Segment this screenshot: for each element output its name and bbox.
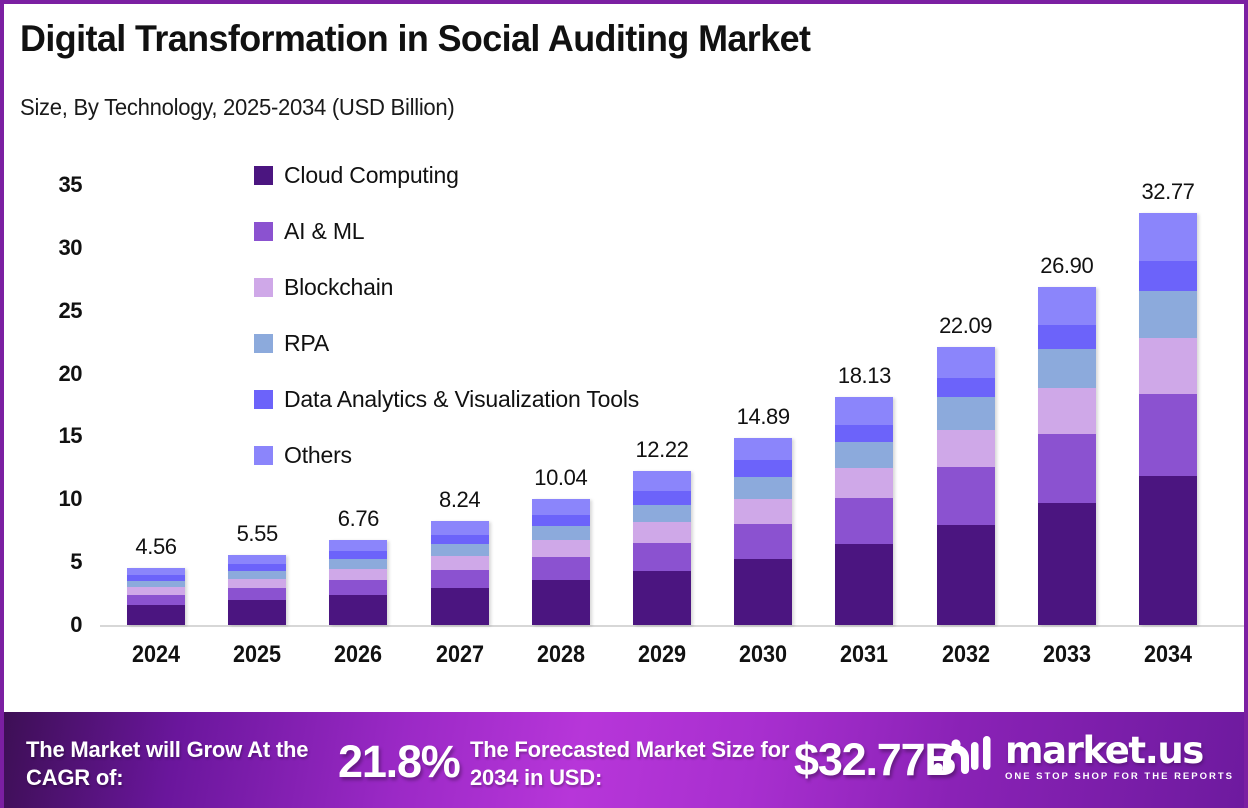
bar-segment[interactable]: [329, 551, 387, 559]
bar-group[interactable]: 26.902033: [1038, 4, 1096, 694]
bar-segment[interactable]: [937, 378, 995, 398]
bar-segment[interactable]: [835, 468, 893, 498]
x-axis-tick-label: 2024: [132, 641, 180, 669]
x-axis-tick-label: 2031: [840, 641, 888, 669]
bar-segment[interactable]: [937, 347, 995, 378]
bar-value-label: 5.55: [237, 521, 278, 547]
y-axis-tick-label: 20: [26, 361, 82, 387]
bar-segment[interactable]: [329, 569, 387, 580]
bar-segment[interactable]: [228, 571, 286, 579]
stacked-bar[interactable]: [937, 347, 995, 625]
legend-item[interactable]: Cloud Computing: [254, 147, 774, 203]
bar-segment[interactable]: [431, 588, 489, 625]
bar-segment[interactable]: [633, 543, 691, 571]
x-axis-tick-label: 2025: [233, 641, 281, 669]
y-axis: 05101520253035: [26, 4, 82, 694]
bar-segment[interactable]: [1038, 434, 1096, 503]
y-axis-tick-label: 35: [26, 172, 82, 198]
banner-forecast-label: The Forecasted Market Size for 2034 in U…: [470, 736, 790, 792]
stacked-bar[interactable]: [329, 540, 387, 625]
bar-segment[interactable]: [835, 397, 893, 425]
bar-segment[interactable]: [937, 525, 995, 625]
bar-segment[interactable]: [127, 595, 185, 605]
y-axis-tick-label: 15: [26, 423, 82, 449]
bar-segment[interactable]: [633, 505, 691, 523]
legend-label: Data Analytics & Visualization Tools: [284, 386, 639, 413]
x-axis-tick-label: 2032: [942, 641, 990, 669]
legend-swatch-icon: [254, 446, 273, 465]
legend-item[interactable]: AI & ML: [254, 203, 774, 259]
x-axis-tick-label: 2030: [739, 641, 787, 669]
bar-value-label: 26.90: [1040, 253, 1093, 279]
bar-value-label: 4.56: [135, 534, 176, 560]
y-axis-tick-label: 0: [26, 612, 82, 638]
bar-segment[interactable]: [127, 587, 185, 595]
stacked-bar[interactable]: [127, 568, 185, 625]
bottom-banner: The Market will Grow At the CAGR of: 21.…: [4, 712, 1248, 808]
legend-label: Cloud Computing: [284, 162, 459, 189]
bar-segment[interactable]: [431, 521, 489, 534]
y-axis-tick-label: 30: [26, 235, 82, 261]
bar-segment[interactable]: [835, 425, 893, 441]
bar-segment[interactable]: [734, 559, 792, 625]
bar-group[interactable]: 22.092032: [937, 4, 995, 694]
stacked-bar[interactable]: [633, 471, 691, 625]
x-axis-tick-label: 2033: [1043, 641, 1091, 669]
bar-segment[interactable]: [1038, 388, 1096, 434]
bar-segment[interactable]: [734, 499, 792, 524]
bar-segment[interactable]: [532, 499, 590, 515]
bar-segment[interactable]: [937, 430, 995, 467]
bar-segment[interactable]: [228, 555, 286, 564]
bar-segment[interactable]: [835, 498, 893, 544]
bar-segment[interactable]: [835, 544, 893, 625]
legend-label: Blockchain: [284, 274, 393, 301]
bar-group[interactable]: 18.132031: [835, 4, 893, 694]
bar-value-label: 6.76: [338, 506, 379, 532]
bar-segment[interactable]: [1139, 338, 1197, 394]
legend-swatch-icon: [254, 278, 273, 297]
stacked-bar[interactable]: [228, 555, 286, 625]
bar-segment[interactable]: [532, 540, 590, 557]
legend-label: Others: [284, 442, 352, 469]
bar-segment[interactable]: [1139, 394, 1197, 476]
bar-value-label: 18.13: [838, 363, 891, 389]
x-axis-tick-label: 2028: [537, 641, 585, 669]
stacked-bar[interactable]: [1139, 213, 1197, 625]
bar-segment[interactable]: [228, 600, 286, 625]
logo-wordmark: market.us: [1005, 732, 1234, 769]
y-axis-tick-label: 5: [26, 549, 82, 575]
legend-item[interactable]: RPA: [254, 315, 774, 371]
bar-segment[interactable]: [1139, 213, 1197, 261]
legend-swatch-icon: [254, 166, 273, 185]
bar-segment[interactable]: [127, 605, 185, 625]
logo-text: market.us ONE STOP SHOP FOR THE REPORTS: [1005, 732, 1234, 782]
bar-segment[interactable]: [633, 522, 691, 542]
bar-value-label: 8.24: [439, 487, 480, 513]
bar-segment[interactable]: [1038, 287, 1096, 325]
bar-segment[interactable]: [1038, 503, 1096, 625]
bar-segment[interactable]: [228, 579, 286, 588]
bar-value-label: 22.09: [939, 313, 992, 339]
bar-segment[interactable]: [532, 526, 590, 540]
chart-legend: Cloud ComputingAI & MLBlockchainRPAData …: [254, 147, 774, 483]
stacked-bar[interactable]: [1038, 287, 1096, 625]
stacked-bar[interactable]: [532, 499, 590, 625]
market-us-logo-icon: [933, 732, 995, 781]
legend-item[interactable]: Blockchain: [254, 259, 774, 315]
x-axis-tick-label: 2029: [638, 641, 686, 669]
bar-segment[interactable]: [1038, 325, 1096, 349]
bar-group[interactable]: 4.562024: [127, 4, 185, 694]
bar-segment[interactable]: [329, 595, 387, 625]
bar-segment[interactable]: [1139, 291, 1197, 339]
bar-segment[interactable]: [1139, 476, 1197, 625]
bar-segment[interactable]: [431, 535, 489, 545]
stacked-bar[interactable]: [431, 521, 489, 625]
x-axis-tick-label: 2027: [436, 641, 484, 669]
y-axis-tick-label: 25: [26, 298, 82, 324]
bar-segment[interactable]: [431, 544, 489, 556]
bar-segment[interactable]: [532, 580, 590, 625]
bar-group[interactable]: 32.772034: [1139, 4, 1197, 694]
bar-segment[interactable]: [835, 442, 893, 468]
legend-swatch-icon: [254, 222, 273, 241]
legend-item[interactable]: Others: [254, 427, 774, 483]
stacked-bar[interactable]: [835, 397, 893, 625]
bar-segment[interactable]: [127, 568, 185, 576]
legend-label: RPA: [284, 330, 329, 357]
bar-segment[interactable]: [329, 559, 387, 569]
legend-item[interactable]: Data Analytics & Visualization Tools: [254, 371, 774, 427]
legend-swatch-icon: [254, 334, 273, 353]
market-us-logo[interactable]: market.us ONE STOP SHOP FOR THE REPORTS: [933, 732, 1234, 782]
bar-segment[interactable]: [633, 491, 691, 505]
banner-forecast-value: $32.77B: [794, 734, 956, 786]
x-axis-tick-label: 2034: [1144, 641, 1192, 669]
bar-segment[interactable]: [127, 581, 185, 588]
legend-swatch-icon: [254, 390, 273, 409]
bar-segment[interactable]: [532, 557, 590, 580]
bar-value-label: 32.77: [1141, 179, 1194, 205]
bar-segment[interactable]: [431, 570, 489, 588]
bar-segment[interactable]: [1139, 261, 1197, 290]
chart-page: Digital Transformation in Social Auditin…: [0, 0, 1248, 808]
banner-cagr-label: The Market will Grow At the CAGR of:: [26, 736, 326, 792]
bar-segment[interactable]: [734, 524, 792, 559]
logo-tagline: ONE STOP SHOP FOR THE REPORTS: [1005, 772, 1234, 782]
bar-segment[interactable]: [532, 515, 590, 527]
bar-segment[interactable]: [633, 571, 691, 625]
legend-label: AI & ML: [284, 218, 364, 245]
bar-segment[interactable]: [329, 540, 387, 551]
bar-segment[interactable]: [937, 467, 995, 525]
bar-segment[interactable]: [431, 556, 489, 570]
y-axis-tick-label: 10: [26, 486, 82, 512]
bar-segment[interactable]: [228, 588, 286, 600]
banner-cagr-value: 21.8%: [338, 736, 460, 788]
bar-segment[interactable]: [937, 397, 995, 429]
bar-segment[interactable]: [1038, 349, 1096, 388]
bar-segment[interactable]: [329, 580, 387, 595]
x-axis-tick-label: 2026: [334, 641, 382, 669]
